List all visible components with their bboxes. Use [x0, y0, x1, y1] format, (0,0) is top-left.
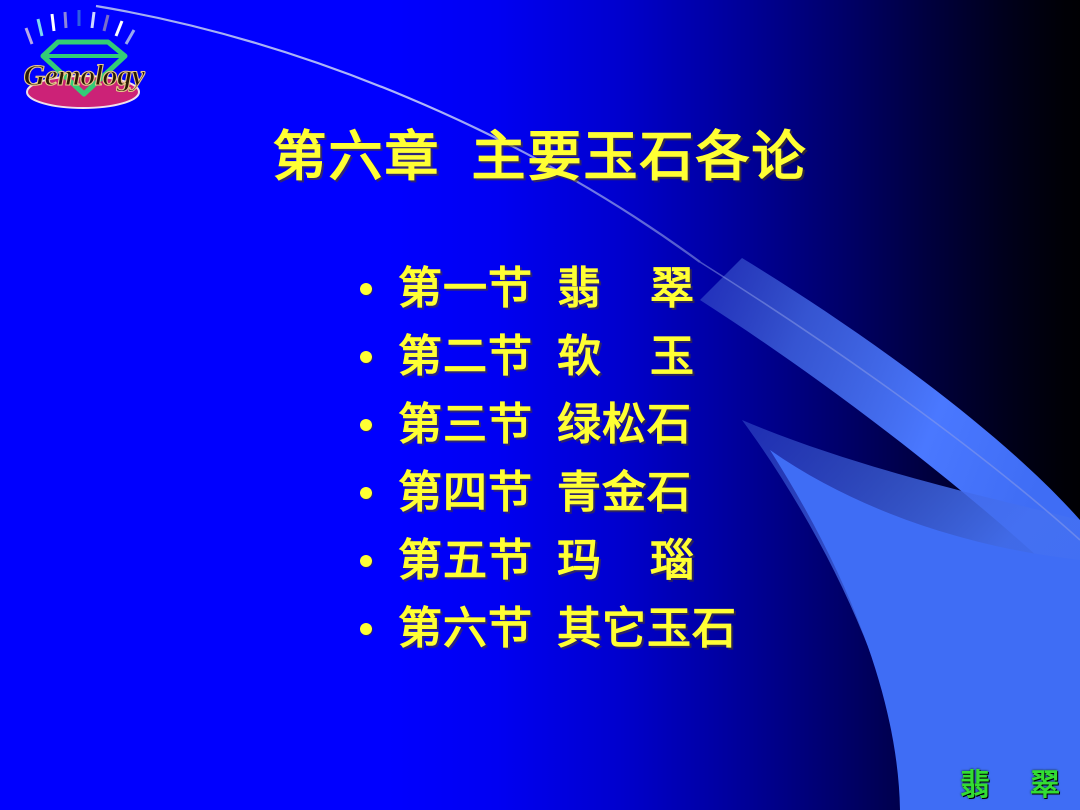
bullet-dot-icon — [360, 351, 372, 363]
slide-canvas: Gemology 第六章 主要玉石各论 第一节 翡 翠 第二节 软 玉 第三节 … — [0, 0, 1080, 810]
bullet-dot-icon — [360, 283, 372, 295]
list-item-label: 第五节 玛 瑙 — [398, 539, 695, 583]
gemology-logo: Gemology — [8, 6, 158, 116]
list-item-label: 第二节 软 玉 — [398, 335, 695, 379]
sparkle-rays-icon — [26, 10, 134, 44]
list-item-label: 第一节 翡 翠 — [398, 267, 695, 311]
contents-list: 第一节 翡 翠 第二节 软 玉 第三节 绿松石 第四节 青金石 第五节 玛 瑙 … — [360, 255, 980, 663]
list-item[interactable]: 第一节 翡 翠 — [360, 255, 980, 323]
bullet-dot-icon — [360, 487, 372, 499]
bullet-dot-icon — [360, 623, 372, 635]
list-item[interactable]: 第五节 玛 瑙 — [360, 527, 980, 595]
list-item[interactable]: 第四节 青金石 — [360, 459, 980, 527]
list-item-label: 第六节 其它玉石 — [398, 607, 737, 651]
footer-watermark: 翡 翠 — [960, 760, 1062, 804]
list-item[interactable]: 第三节 绿松石 — [360, 391, 980, 459]
list-item-label: 第四节 青金石 — [398, 471, 692, 515]
bullet-dot-icon — [360, 555, 372, 567]
list-item[interactable]: 第二节 软 玉 — [360, 323, 980, 391]
list-item[interactable]: 第六节 其它玉石 — [360, 595, 980, 663]
list-item-label: 第三节 绿松石 — [398, 403, 692, 447]
bullet-dot-icon — [360, 419, 372, 431]
logo-wordmark: Gemology — [14, 61, 154, 91]
page-title: 第六章 主要玉石各论 — [0, 112, 1080, 191]
